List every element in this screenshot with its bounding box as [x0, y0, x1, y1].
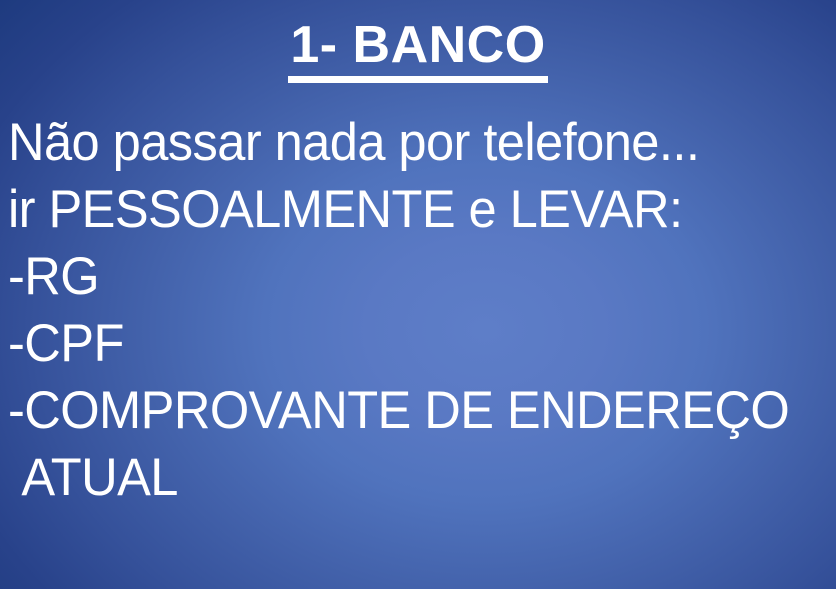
- slide-canvas: 1- BANCO Não passar nada por telefone...…: [0, 0, 836, 589]
- body-line-4: -CPF: [8, 310, 799, 377]
- slide-body-block: Não passar nada por telefone... ir PESSO…: [8, 109, 836, 511]
- body-line-3: -RG: [8, 243, 799, 310]
- body-line-5: -COMPROVANTE DE ENDEREÇO: [8, 377, 799, 444]
- body-line-2: ir PESSOALMENTE e LEVAR:: [8, 176, 799, 243]
- page-title: 1- BANCO: [288, 18, 547, 83]
- body-line-6: ATUAL: [8, 444, 799, 511]
- body-line-1: Não passar nada por telefone...: [8, 109, 799, 176]
- slide-title-block: 1- BANCO: [0, 18, 836, 83]
